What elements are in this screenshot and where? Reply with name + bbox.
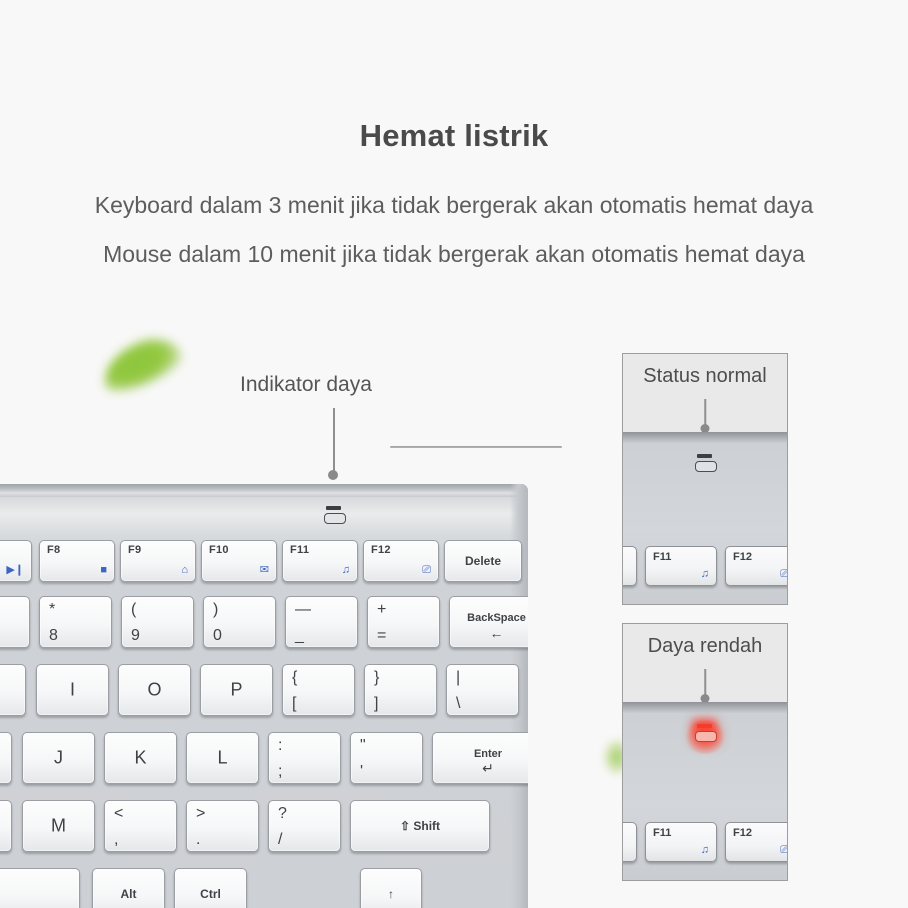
key-center-label: Alt <box>93 887 164 901</box>
key-number-2[interactable]: (9 <box>121 596 194 648</box>
horizontal-rule <box>390 446 562 448</box>
key-upper-legend: < <box>114 805 123 823</box>
stop-icon: ■ <box>100 565 107 576</box>
key-function-1[interactable]: F8■ <box>39 540 115 582</box>
panel-power-indicator-icon <box>695 454 715 472</box>
panel-leader-line <box>704 669 706 696</box>
key-function-4[interactable]: F11♫ <box>282 540 358 582</box>
key-bottom-0[interactable]: N <box>0 800 12 852</box>
power-indicator-bar <box>326 506 341 510</box>
key-top-label: F10 <box>209 544 229 556</box>
key-function-3[interactable]: F10✉ <box>201 540 277 582</box>
key-letter: L <box>187 748 258 769</box>
key-function-0[interactable]: ▶❙ <box>0 540 32 582</box>
panel-label: Status normal <box>623 365 787 388</box>
key-upper-legend: } <box>374 669 379 687</box>
panel-key-row: F11 ♫ F12 ⎚ <box>623 544 787 604</box>
key-number-3[interactable]: )0 <box>203 596 276 648</box>
panel-key-f11: F11 ♫ <box>645 822 717 862</box>
panel-key-f12: F12 ⎚ <box>725 546 788 586</box>
indicator-leader-line <box>333 408 335 473</box>
promo-page: Hemat listrik Keyboard dalam 3 menit jik… <box>0 0 908 908</box>
media-player-icon: ⎚ <box>422 565 431 576</box>
panel-daya-rendah: Daya rendah F11 ♫ F12 ⎚ <box>622 623 788 881</box>
key-letter: H <box>0 748 11 769</box>
key-upper-legend: > <box>196 805 205 823</box>
panel-key-partial <box>622 822 637 862</box>
subtitle-line-1: Keyboard dalam 3 menit jika tidak berger… <box>0 192 908 219</box>
key-upper-legend: ) <box>213 601 218 619</box>
key-center-label: ⇧ Shift <box>351 819 489 833</box>
panel-bezel-strip <box>623 432 787 444</box>
key-home-3[interactable]: L <box>186 732 259 784</box>
key-lower-legend: . <box>196 831 200 849</box>
key-modifier-2[interactable]: Ctrl <box>174 868 247 908</box>
key-upper-legend: | <box>456 669 460 687</box>
key-letter: U <box>0 680 25 701</box>
key-upper-legend: : <box>278 737 282 755</box>
subtitle-line-2: Mouse dalam 10 menit jika tidak bergerak… <box>0 241 908 268</box>
key-upper-legend: ? <box>278 805 287 823</box>
key-function-2[interactable]: F9⌂ <box>120 540 196 582</box>
key-letter: I <box>37 680 108 701</box>
key-qwerty-6[interactable]: |\ <box>446 664 519 716</box>
key-center-label: Ctrl <box>175 887 246 901</box>
key-lower-legend: ] <box>374 695 378 713</box>
key-lower-legend: 0 <box>213 627 222 645</box>
key-lower-legend: 8 <box>49 627 58 645</box>
panel-indicator-battery-lit <box>695 731 717 742</box>
indicator-leader-dot <box>328 470 338 480</box>
key-arrow-glyph: ↵ <box>433 760 528 777</box>
key-upper-legend: * <box>49 601 55 619</box>
key-bottom-1[interactable]: M <box>22 800 95 852</box>
key-lower-legend: / <box>278 831 282 849</box>
key-bottom-4[interactable]: ?/ <box>268 800 341 852</box>
key-modifier-0[interactable] <box>0 868 80 908</box>
key-qwerty-3[interactable]: P <box>200 664 273 716</box>
indicator-callout-label: Indikator daya <box>240 373 372 397</box>
key-qwerty-1[interactable]: I <box>36 664 109 716</box>
panel-bezel-strip <box>623 702 787 714</box>
key-home-6[interactable]: Enter↵ <box>432 732 528 784</box>
play-pause-icon: ▶❙ <box>6 565 24 576</box>
key-qwerty-5[interactable]: }] <box>364 664 437 716</box>
panel-indicator-bar-lit <box>697 724 712 728</box>
key-function-5[interactable]: F12⎚ <box>363 540 439 582</box>
key-modifier-1[interactable]: Alt <box>92 868 165 908</box>
panel-label: Daya rendah <box>623 635 787 658</box>
key-bottom-3[interactable]: >. <box>186 800 259 852</box>
key-upper-legend: ( <box>131 601 136 619</box>
key-number-6[interactable]: BackSpace← <box>449 596 528 648</box>
panel-top-area: Status normal <box>623 354 787 432</box>
key-center-label: Enter <box>433 748 528 760</box>
key-center-label: Delete <box>445 554 521 568</box>
key-bottom-2[interactable]: <, <box>104 800 177 852</box>
key-number-0[interactable]: &7 <box>0 596 30 648</box>
key-home-2[interactable]: K <box>104 732 177 784</box>
panel-indicator-bar <box>697 454 712 458</box>
panel-status-normal: Status normal F11 ♫ F12 ⎚ <box>622 353 788 605</box>
key-home-4[interactable]: :; <box>268 732 341 784</box>
key-letter: K <box>105 748 176 769</box>
key-number-1[interactable]: *8 <box>39 596 112 648</box>
key-lower-legend: \ <box>456 695 460 713</box>
key-upper-legend: — <box>295 601 311 619</box>
keyboard-image: ▶❙F8■F9⌂F10✉F11♫F12⎚Delete&7*8(9)0—_+=Ba… <box>0 484 528 908</box>
key-qwerty-0[interactable]: U <box>0 664 26 716</box>
music-note-icon: ♫ <box>342 565 350 576</box>
key-center-label: BackSpace <box>450 612 528 624</box>
panel-key-f11: F11 ♫ <box>645 546 717 586</box>
leaf-decoration <box>95 329 187 399</box>
key-arrow-glyph: ← <box>450 625 528 641</box>
panel-power-indicator-icon-lit <box>695 724 715 742</box>
key-bottom-5[interactable]: ⇧ Shift <box>350 800 490 852</box>
page-title: Hemat listrik <box>0 118 908 154</box>
home-icon: ⌂ <box>181 565 188 576</box>
key-letter: O <box>119 680 190 701</box>
key-letter: J <box>23 748 94 769</box>
key-top-label: F9 <box>128 544 141 556</box>
key-modifier-3[interactable]: ↑ <box>360 868 422 908</box>
key-top-label: F11 <box>290 544 309 556</box>
mail-icon: ✉ <box>260 565 269 576</box>
key-home-0[interactable]: H <box>0 732 12 784</box>
key-number-4[interactable]: —_ <box>285 596 358 648</box>
key-lower-legend: 9 <box>131 627 140 645</box>
key-lower-legend: ' <box>360 763 363 781</box>
panel-key-partial <box>622 546 637 586</box>
panel-top-area: Daya rendah <box>623 624 787 702</box>
key-letter: P <box>201 680 272 701</box>
panel-key-f12: F12 ⎚ <box>725 822 788 862</box>
power-indicator-battery <box>324 513 346 524</box>
music-note-icon: ♫ <box>701 845 709 856</box>
panel-indicator-battery <box>695 461 717 472</box>
power-indicator-icon <box>324 506 344 524</box>
key-home-5[interactable]: "' <box>350 732 423 784</box>
panel-leader-line <box>704 399 706 426</box>
key-center-label: ↑ <box>361 887 421 901</box>
key-number-5[interactable]: += <box>367 596 440 648</box>
media-player-icon: ⎚ <box>780 845 788 856</box>
panel-key-row: F11 ♫ F12 ⎚ <box>623 820 787 880</box>
key-upper-legend: { <box>292 669 297 687</box>
key-qwerty-4[interactable]: {[ <box>282 664 355 716</box>
key-lower-legend: , <box>114 831 118 849</box>
key-lower-legend: = <box>377 627 386 645</box>
key-upper-legend: + <box>377 601 386 619</box>
panel-key-f12-label: F12 <box>733 827 752 839</box>
key-lower-legend: [ <box>292 695 296 713</box>
key-upper-legend: " <box>360 737 366 755</box>
key-top-label: F8 <box>47 544 60 556</box>
key-lower-legend: _ <box>295 627 304 645</box>
panel-key-f11-label: F11 <box>653 827 671 839</box>
key-letter: M <box>23 816 94 837</box>
keyboard-top-bezel <box>0 484 528 497</box>
music-note-icon: ♫ <box>701 569 709 580</box>
panel-key-f12-label: F12 <box>733 551 752 563</box>
key-lower-legend: ; <box>278 763 282 781</box>
key-function-6[interactable]: Delete <box>444 540 522 582</box>
key-letter: N <box>0 816 11 837</box>
key-top-label: F12 <box>371 544 391 556</box>
key-qwerty-2[interactable]: O <box>118 664 191 716</box>
panel-key-f11-label: F11 <box>653 551 671 563</box>
key-home-1[interactable]: J <box>22 732 95 784</box>
media-player-icon: ⎚ <box>780 569 788 580</box>
